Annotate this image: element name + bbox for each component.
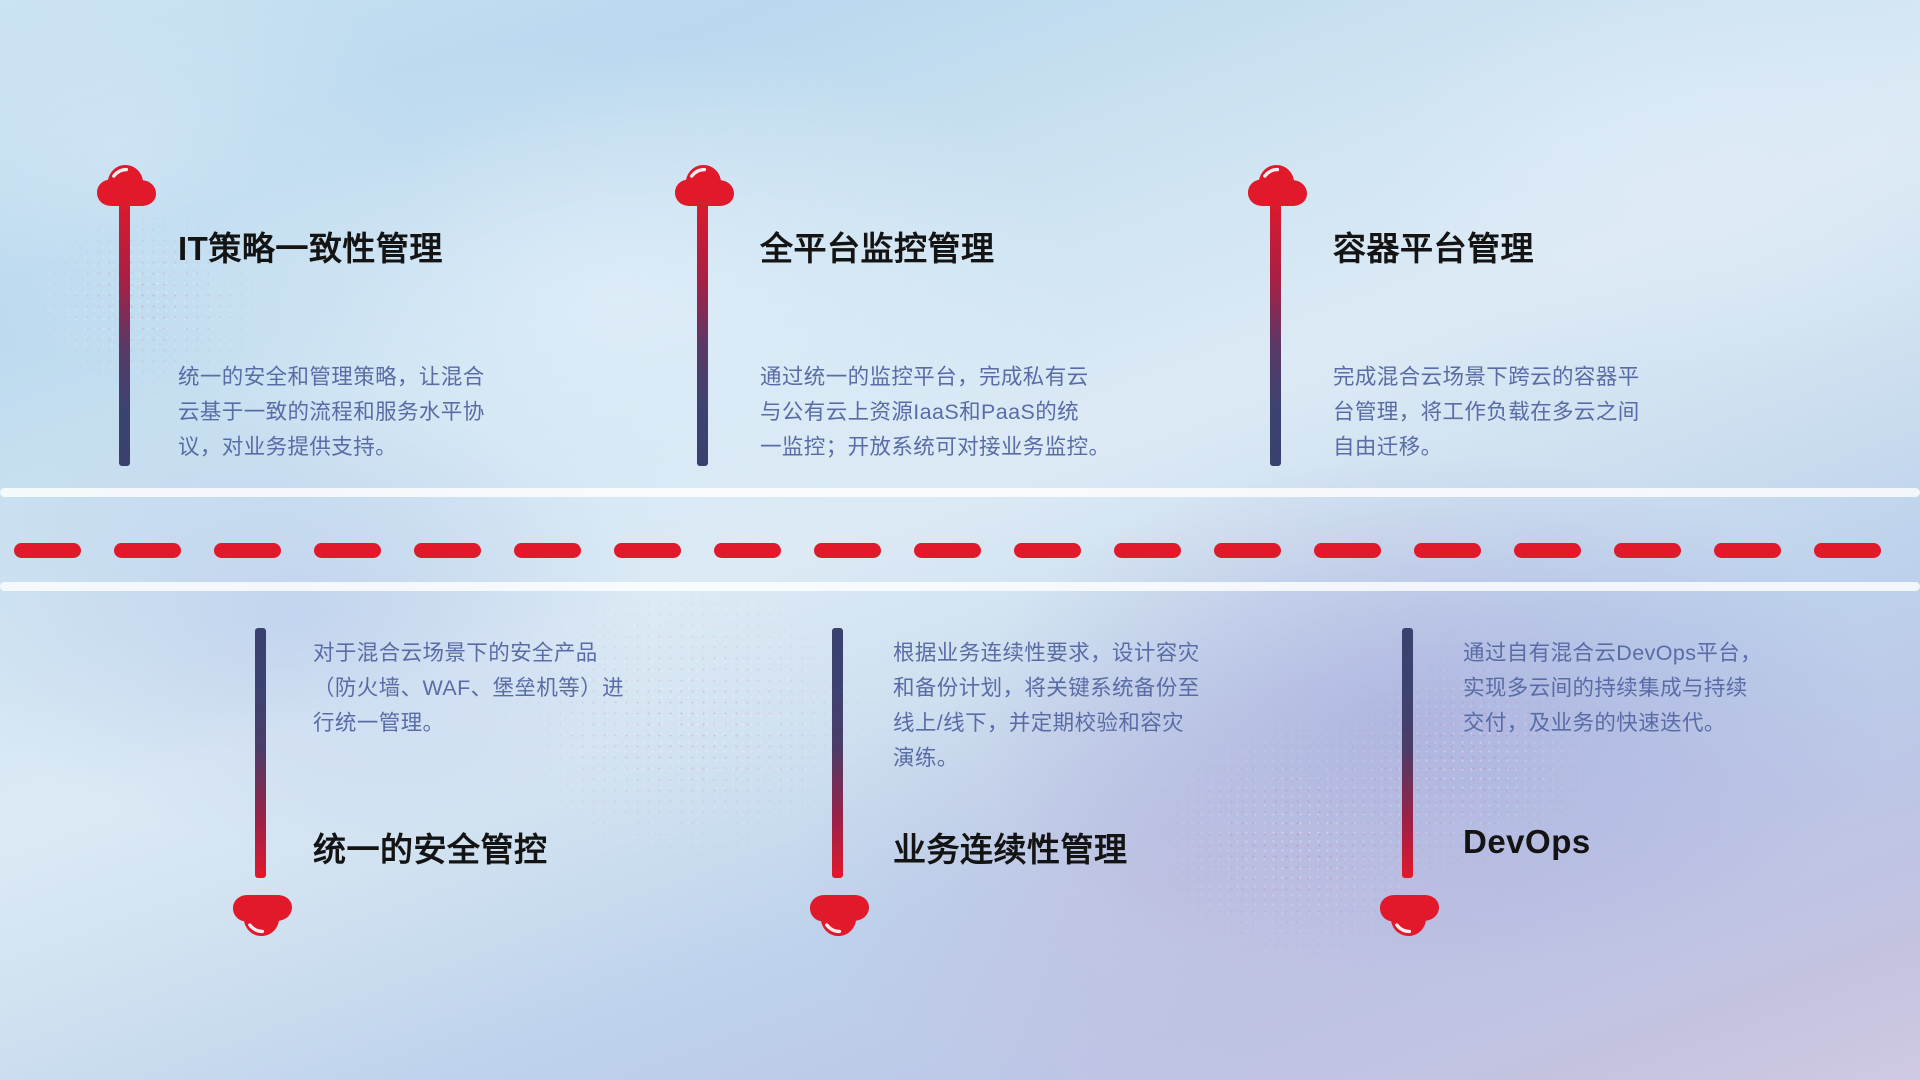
column-body-text: 通过统一的监控平台，完成私有云 与公有云上资源IaaS和PaaS的统 一监控；开…: [760, 360, 1220, 465]
road-dash-segment: [814, 543, 881, 558]
column-heading: 业务连续性管理: [893, 823, 1128, 871]
road-dash-segment: [114, 543, 181, 558]
column-heading: 容器平台管理: [1333, 222, 1534, 270]
timeline-stem: [1402, 628, 1413, 878]
road-dash-segment: [1014, 543, 1081, 558]
road-dash-segment: [14, 543, 81, 558]
road-dash-segment: [514, 543, 581, 558]
road-dash-segment: [1314, 543, 1381, 558]
column-body-text: 通过自有混合云DevOps平台， 实现多云间的持续集成与持续 交付，及业务的快速…: [1463, 636, 1893, 741]
road-dash-segment: [414, 543, 481, 558]
column-heading: 统一的安全管控: [313, 823, 548, 871]
column-heading: 全平台监控管理: [760, 222, 995, 270]
infographic-canvas: IT策略一致性管理 统一的安全和管理策略，让混合 云基于一致的流程和服务水平协 …: [0, 0, 1920, 1080]
road-dash-segment: [314, 543, 381, 558]
road-dash-segment: [614, 543, 681, 558]
timeline-stem: [119, 196, 130, 466]
road-dash-segment: [714, 543, 781, 558]
road-dash-segment: [1214, 543, 1281, 558]
road-dash-segment: [214, 543, 281, 558]
road-dash-segment: [1414, 543, 1481, 558]
road-dash-segment: [1714, 543, 1781, 558]
timeline-stem: [255, 628, 266, 878]
road-dash-segment: [1114, 543, 1181, 558]
column-body-text: 统一的安全和管理策略，让混合 云基于一致的流程和服务水平协 议，对业务提供支持。: [178, 360, 618, 465]
road-dash-segment: [1814, 543, 1881, 558]
road-dash-segment: [914, 543, 981, 558]
column-heading: DevOps: [1463, 823, 1591, 861]
timeline-stem: [1270, 196, 1281, 466]
column-body-text: 完成混合云场景下跨云的容器平 台管理，将工作负载在多云之间 自由迁移。: [1333, 360, 1773, 465]
cloud-icon: [232, 893, 294, 941]
road-rail-bottom: [0, 582, 1920, 591]
road-rail-top: [0, 488, 1920, 497]
cloud-icon: [809, 893, 871, 941]
column-body-text: 根据业务连续性要求，设计容灾 和备份计划，将关键系统备份至 线上/线下，并定期校…: [893, 636, 1333, 776]
column-body-text: 对于混合云场景下的安全产品 （防火墙、WAF、堡垒机等）进 行统一管理。: [313, 636, 743, 741]
column-heading: IT策略一致性管理: [178, 222, 443, 270]
road-dash-segment: [1514, 543, 1581, 558]
road-center-dashes: [0, 543, 1920, 558]
cloud-icon: [1379, 893, 1441, 941]
road-dash-segment: [1614, 543, 1681, 558]
timeline-stem: [697, 196, 708, 466]
timeline-stem: [832, 628, 843, 878]
